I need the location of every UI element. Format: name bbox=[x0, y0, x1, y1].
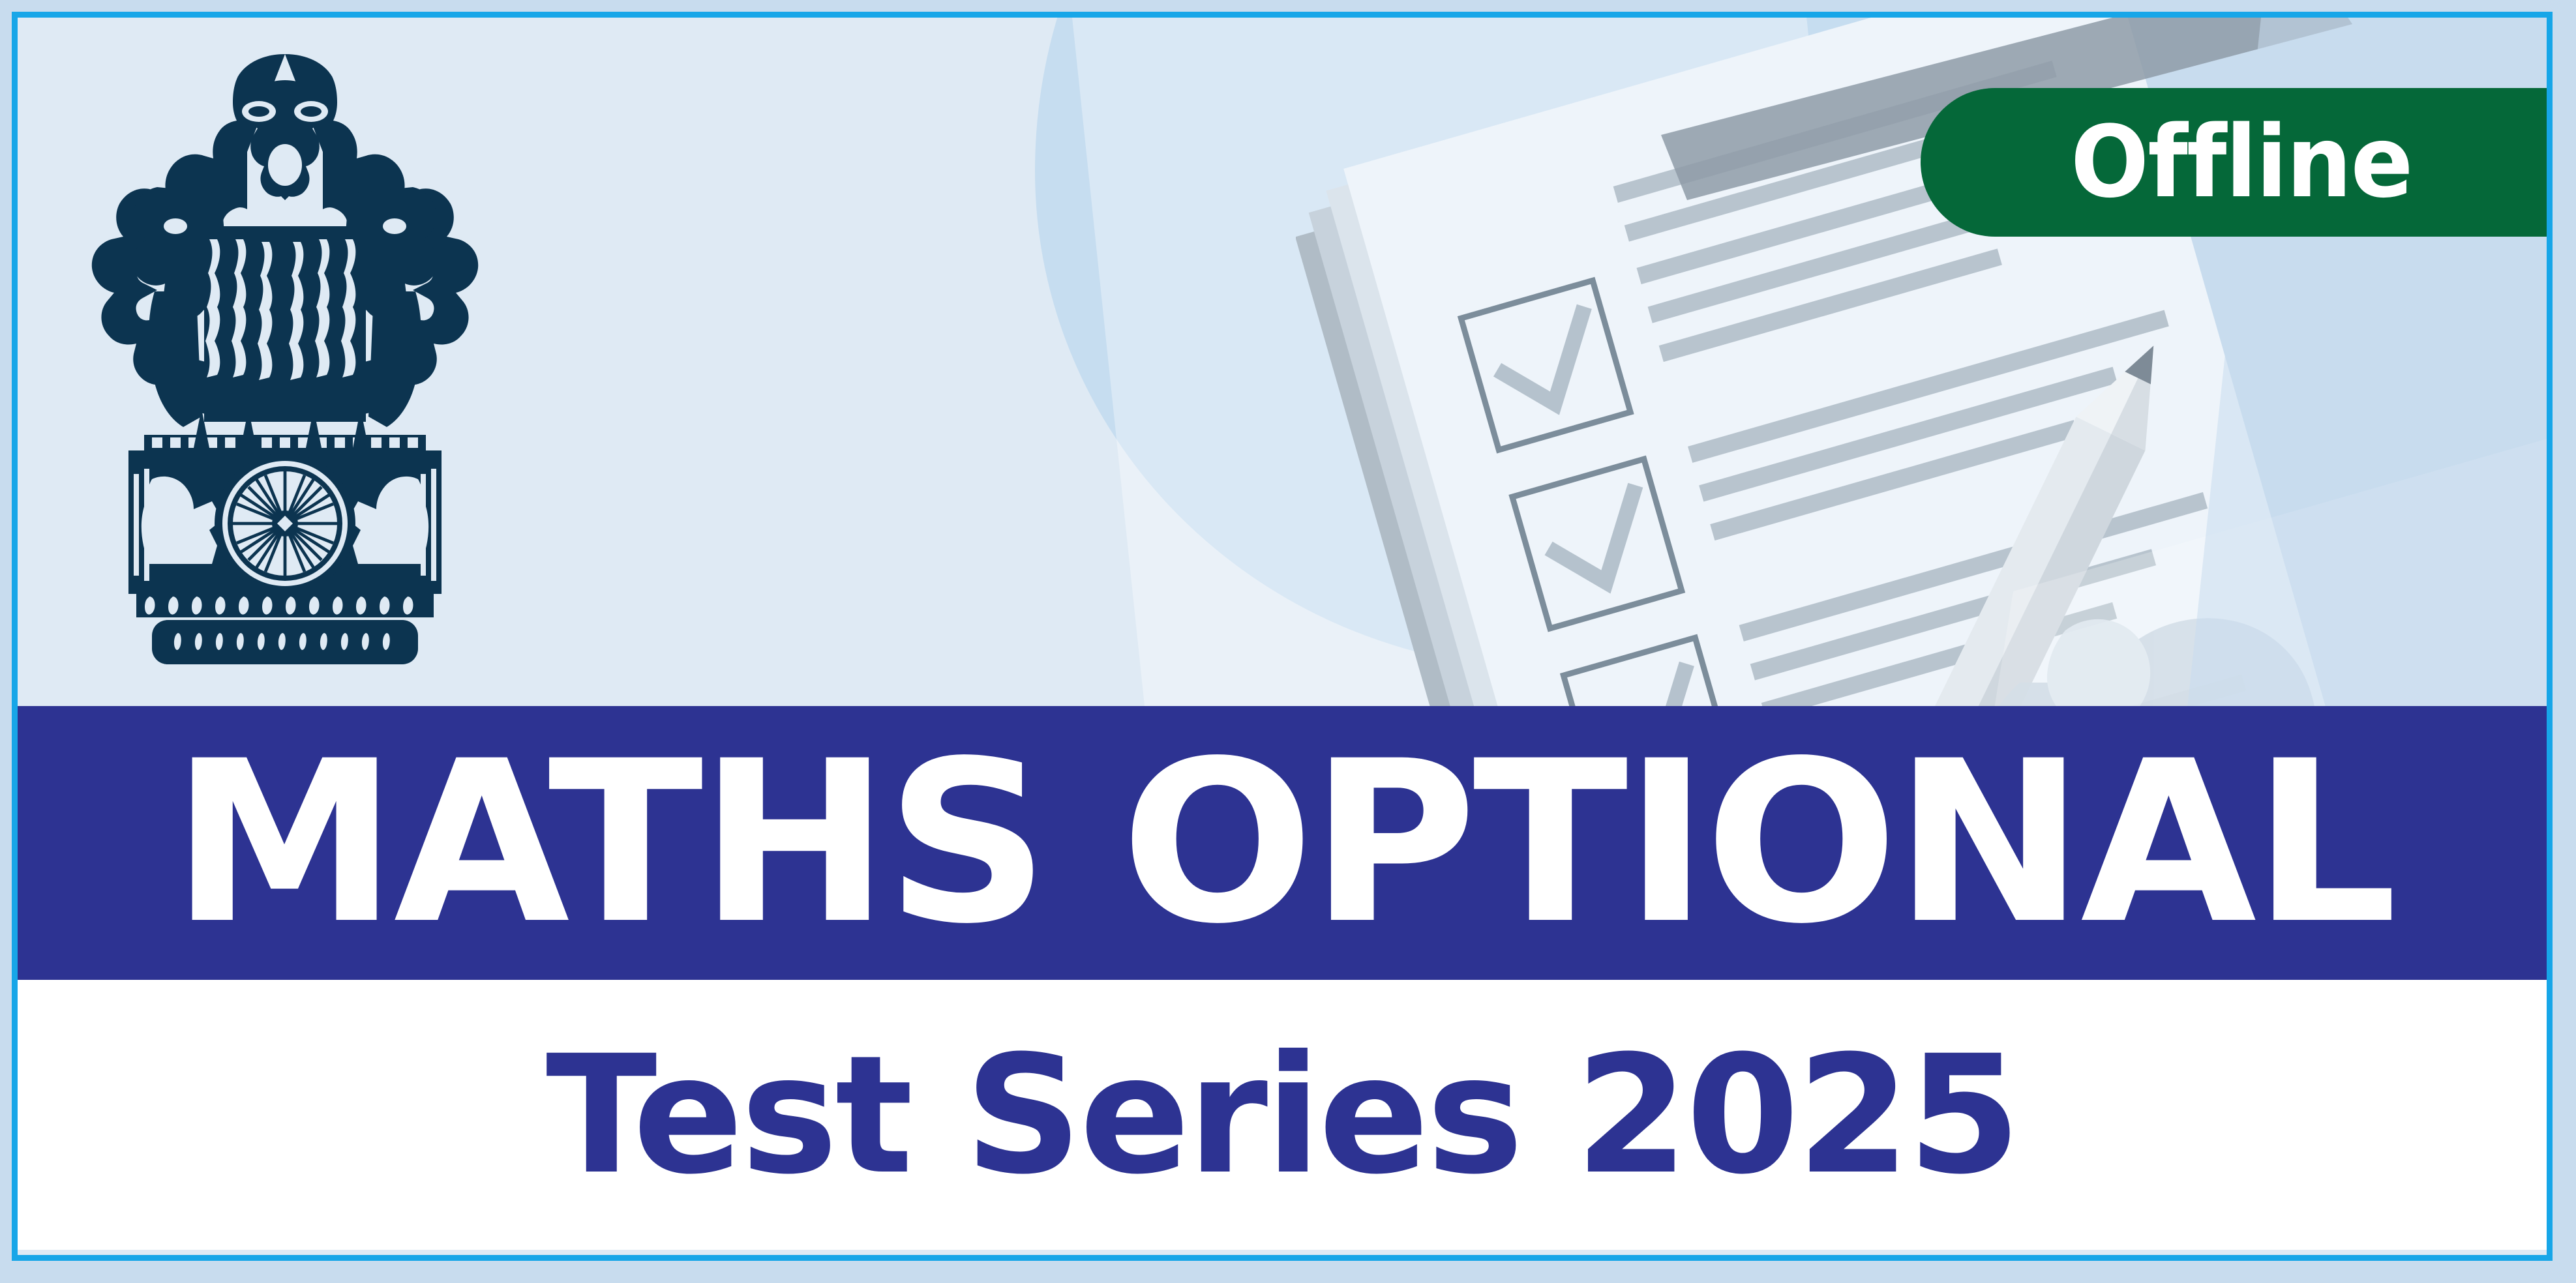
subtitle-band: Test Series 2025 bbox=[18, 980, 2547, 1250]
page-title: MATHS OPTIONAL bbox=[171, 747, 2393, 939]
page-subtitle: Test Series 2025 bbox=[546, 1042, 2018, 1188]
offline-status-badge[interactable]: Offline bbox=[1921, 88, 2547, 237]
title-band: MATHS OPTIONAL bbox=[18, 706, 2547, 980]
poster-frame: Offline MATHS OPTIONAL Test Series 2025 bbox=[12, 12, 2553, 1261]
offline-badge-label: Offline bbox=[2071, 113, 2412, 212]
poster-root: Offline MATHS OPTIONAL Test Series 2025 bbox=[0, 0, 2576, 1283]
ashoka-emblem-icon bbox=[76, 31, 494, 709]
